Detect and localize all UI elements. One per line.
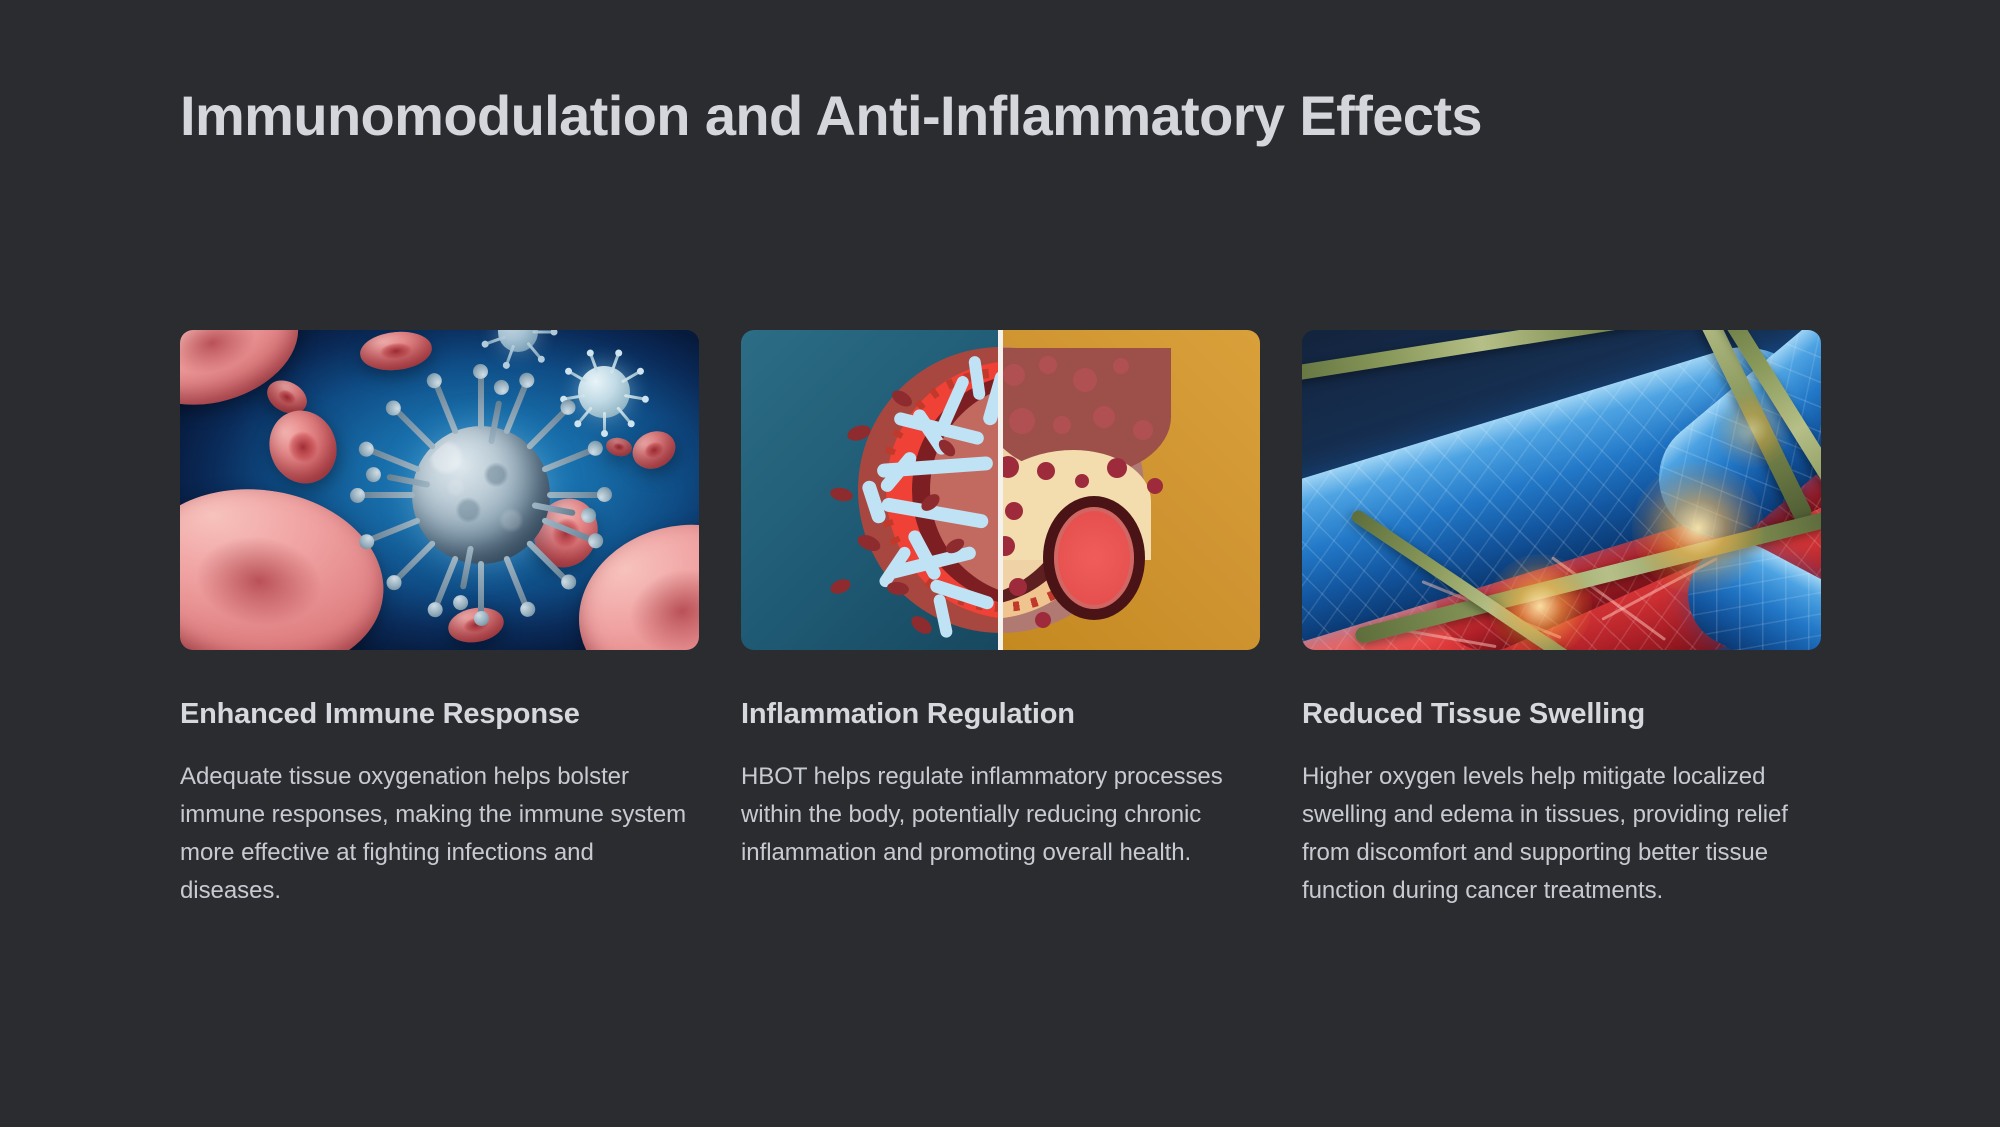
virus-particle-small [578,366,630,418]
card-title: Reduced Tissue Swelling [1302,697,1821,732]
card-body-text: Adequate tissue oxygenation helps bolste… [180,758,699,910]
benefit-card-reduced-tissue-swelling: Reduced Tissue Swelling Higher oxygen le… [1302,330,1821,909]
vessel-split-divider [998,330,1003,650]
card-body-text: Higher oxygen levels help mitigate local… [1302,758,1821,910]
card-body-text: HBOT helps regulate inflammatory process… [741,758,1260,872]
card-title: Enhanced Immune Response [180,697,699,732]
virus-and-red-blood-cells-image [180,330,699,650]
vessel-illustration-canvas [741,330,1260,650]
benefit-card-inflammation-regulation: Inflammation Regulation HBOT helps regul… [741,330,1260,872]
page-title: Immunomodulation and Anti-Inflammatory E… [180,78,1740,154]
vessel-inflamed-half [1001,330,1261,650]
nerve-fiber-top [1302,330,1691,384]
page-root: Immunomodulation and Anti-Inflammatory E… [0,0,2000,1127]
nerve-illustration-canvas [1302,330,1821,650]
blood-vessels-and-nerves-image [1302,330,1821,650]
virus-particle-main [412,426,550,564]
virus-illustration-canvas [180,330,699,650]
card-title: Inflammation Regulation [741,697,1260,732]
benefit-card-enhanced-immune-response: Enhanced Immune Response Adequate tissue… [180,330,699,909]
virus-particle-tiny [498,330,538,352]
blood-vessel-cross-section-image [741,330,1260,650]
benefit-cards-grid: Enhanced Immune Response Adequate tissue… [180,330,1822,909]
vessel-healthy-half [741,330,1001,650]
